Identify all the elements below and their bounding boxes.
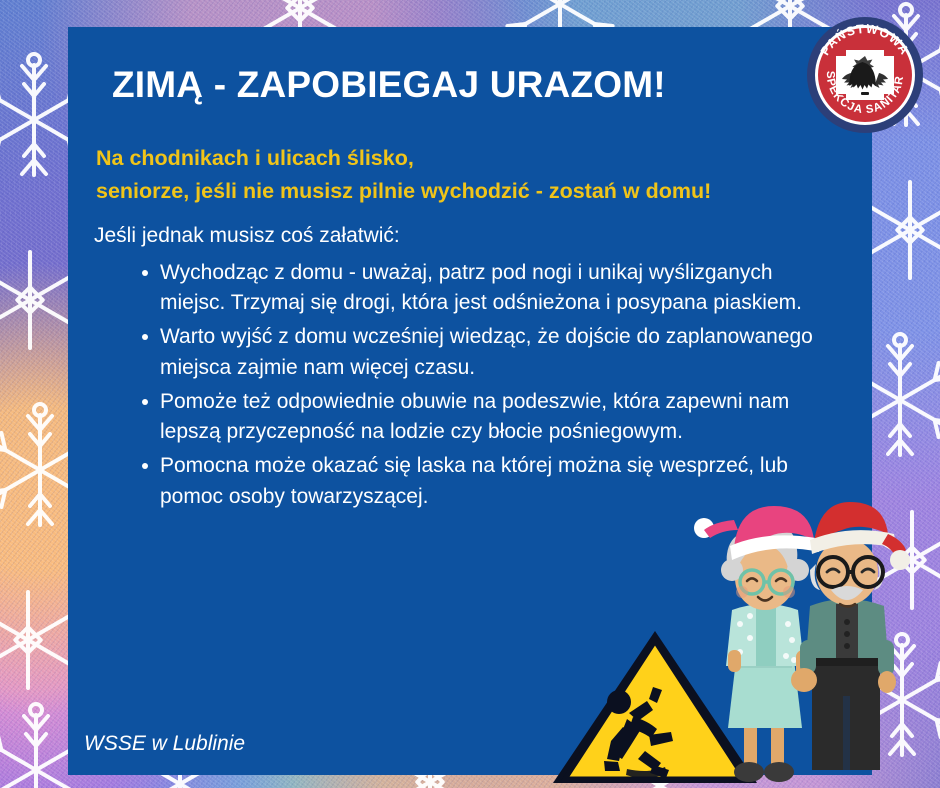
intro-subline: Jeśli jednak musisz coś załatwić: (94, 222, 400, 249)
elderly-woman-figure (694, 506, 819, 782)
winter-safety-poster: PAŃSTWOWA INSPEKCJA SANITARNA ZIMĄ - ZAP… (0, 0, 940, 788)
list-item: Pomoże też odpowiednie obuwie na podeszw… (140, 387, 840, 447)
poster-title: ZIMĄ - ZAPOBIEGAJ URAZOM! (112, 66, 812, 105)
lead-line-1: Na chodnikach i ulicach ślisko, (96, 142, 856, 175)
panstwowa-inspekcja-sanitarna-emblem: PAŃSTWOWA INSPEKCJA SANITARNA (806, 16, 924, 134)
lead-line-2: seniorze, jeśli nie musisz pilnie wychod… (96, 175, 856, 208)
list-item: Warto wyjść z domu wcześniej wiedząc, że… (140, 322, 840, 382)
organization-credit: WSSE w Lublinie (84, 732, 245, 756)
list-item: Wychodząc z domu - uważaj, patrz pod nog… (140, 258, 840, 318)
lead-paragraph: Na chodnikach i ulicach ślisko, seniorze… (96, 142, 856, 207)
safety-advice-list: Wychodząc z domu - uważaj, patrz pod nog… (112, 258, 840, 516)
elderly-couple-illustration (688, 500, 920, 788)
